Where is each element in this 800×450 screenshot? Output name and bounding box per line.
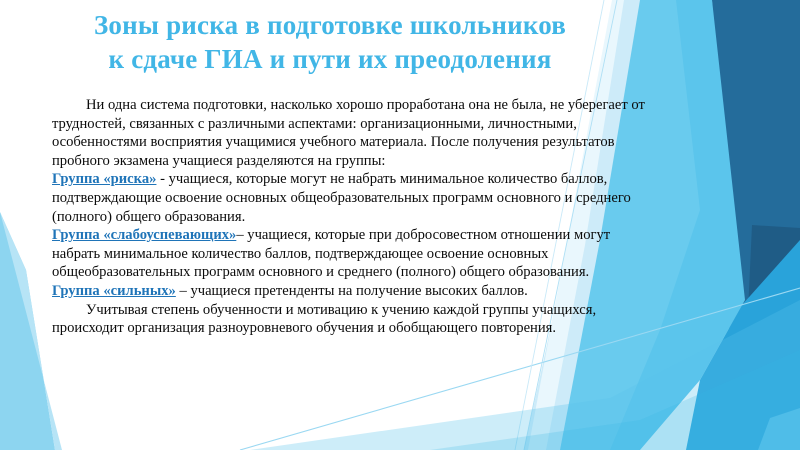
title-line-2: к сдаче ГИА и пути их преодоления xyxy=(40,42,620,76)
decor-right-navy-wedge xyxy=(712,0,800,305)
link-group-weak[interactable]: Группа «слабоуспевающих» xyxy=(52,227,236,243)
paragraph-conclusion: Учитывая степень обученности и мотивацию… xyxy=(52,301,652,338)
title-line-1: Зоны риска в подготовке школьников xyxy=(40,8,620,42)
decor-mid-blue-wedge xyxy=(686,240,800,450)
decor-bottom-right-triangle xyxy=(758,408,800,450)
decor-lower-right-light2 xyxy=(430,350,800,450)
slide-body-text: Ни одна система подготовки, насколько хо… xyxy=(52,96,652,338)
paragraph-group-strong-text: – учащиеся претенденты на получение высо… xyxy=(176,283,528,299)
link-group-strong[interactable]: Группа «сильных» xyxy=(52,283,176,299)
link-group-risk[interactable]: Группа «риска» xyxy=(52,171,156,187)
paragraph-intro: Ни одна система подготовки, насколько хо… xyxy=(52,96,652,170)
paragraph-group-risk: Группа «риска» - учащиеся, которые могут… xyxy=(52,170,652,226)
presentation-slide: Зоны риска в подготовке школьников к сда… xyxy=(0,0,800,450)
paragraph-conclusion-text: Учитывая степень обученности и мотивацию… xyxy=(52,302,596,337)
decor-right-accent-triangle xyxy=(748,225,800,312)
paragraph-group-weak: Группа «слабоуспевающих»– учащиеся, кото… xyxy=(52,226,652,282)
paragraph-group-strong: Группа «сильных» – учащиеся претенденты … xyxy=(52,282,652,301)
decor-right-dark-band xyxy=(712,0,800,450)
decor-left-triangle xyxy=(0,212,55,450)
slide-title: Зоны риска в подготовке школьников к сда… xyxy=(40,8,620,76)
paragraph-intro-text: Ни одна система подготовки, насколько хо… xyxy=(52,97,645,169)
